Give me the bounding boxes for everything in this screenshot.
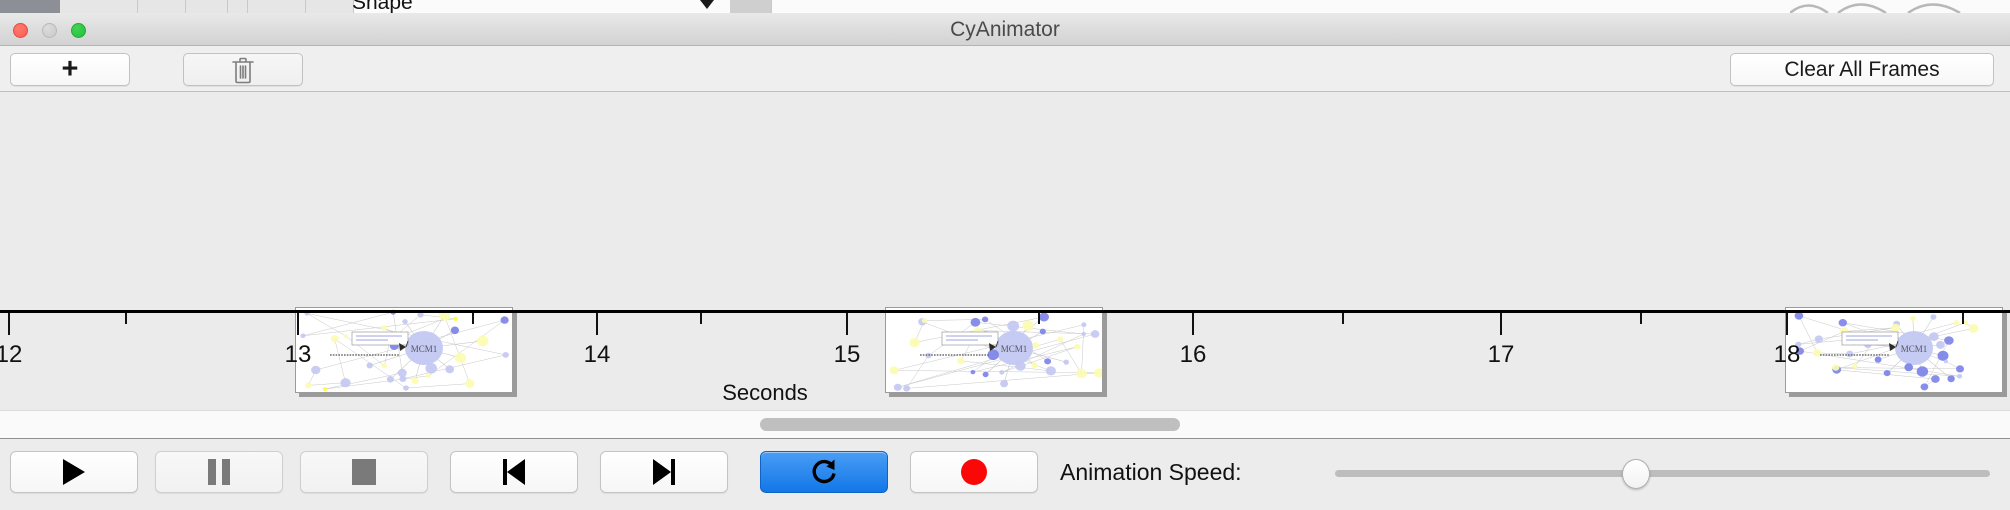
axis-tick-label: 13	[285, 341, 312, 369]
axis-tick-major	[596, 313, 598, 335]
axis-tick-minor	[1342, 313, 1344, 324]
record-button[interactable]	[910, 451, 1038, 493]
plus-icon: +	[62, 58, 79, 81]
axis-tick-label: 15	[834, 341, 861, 369]
trash-icon	[230, 56, 256, 84]
timeline-scrollbar[interactable]	[0, 410, 2010, 438]
add-frame-button[interactable]: +	[10, 53, 130, 86]
bg-band-4	[228, 0, 248, 13]
svg-text:MCM1: MCM1	[1901, 344, 1928, 354]
bg-band-1	[60, 0, 138, 13]
bg-band-7	[730, 0, 772, 13]
playback-control-bar: Animation Speed:	[0, 438, 2010, 510]
clear-all-frames-label: Clear All Frames	[1784, 58, 1939, 82]
animation-speed-slider-knob[interactable]	[1622, 459, 1650, 489]
axis-tick-major	[846, 313, 848, 335]
axis-tick-minor	[1962, 313, 1964, 324]
axis-tick-minor	[700, 313, 702, 324]
skip-forward-icon	[653, 459, 675, 485]
svg-text:MCM1: MCM1	[411, 344, 438, 354]
bg-arc-decoration	[1790, 0, 2010, 13]
bg-dark-segment	[0, 0, 60, 13]
timeline-panel[interactable]: MCM1 MCM1	[0, 92, 2010, 410]
loop-button[interactable]	[760, 451, 888, 493]
axis-tick-major	[1192, 313, 1194, 335]
timeline-axis	[0, 310, 2010, 313]
frame-toolbar: + Clear All Frames	[0, 46, 2010, 92]
bg-band-3	[186, 0, 228, 13]
axis-tick-major	[8, 313, 10, 335]
bg-triangle-icon	[700, 0, 714, 9]
record-icon	[961, 459, 987, 485]
axis-tick-major	[1786, 313, 1788, 335]
axis-tick-label: 17	[1488, 341, 1515, 369]
timeline-scrollbar-thumb[interactable]	[760, 418, 1180, 431]
stop-button[interactable]	[300, 451, 428, 493]
window-title: CyAnimator	[0, 13, 2010, 46]
axis-tick-label: 12	[0, 341, 22, 369]
svg-text:MCM1: MCM1	[1001, 344, 1028, 354]
bg-band-6	[306, 0, 354, 13]
axis-tick-minor	[125, 313, 127, 324]
skip-forward-button[interactable]	[600, 451, 728, 493]
axis-tick-major	[1500, 313, 1502, 335]
animation-speed-label: Animation Speed:	[1060, 451, 1242, 493]
bg-band-2	[138, 0, 186, 13]
background-window-strip: Shape	[0, 0, 2010, 13]
skip-back-button[interactable]	[450, 451, 578, 493]
axis-title-text: Seconds	[722, 380, 808, 406]
pause-button[interactable]	[155, 451, 283, 493]
animation-speed-slider[interactable]	[1335, 470, 1990, 477]
clear-all-frames-button[interactable]: Clear All Frames	[1730, 53, 1994, 86]
axis-title: Seconds	[0, 380, 2010, 406]
axis-tick-minor	[1038, 313, 1040, 324]
axis-tick-minor	[1640, 313, 1642, 324]
delete-frame-button[interactable]	[183, 53, 303, 86]
pause-icon	[208, 459, 230, 485]
axis-tick-label: 14	[584, 341, 611, 369]
loop-icon	[809, 457, 839, 487]
bg-band-5	[248, 0, 306, 13]
skip-back-icon	[503, 459, 525, 485]
axis-tick-major	[297, 313, 299, 335]
axis-tick-minor	[472, 313, 474, 324]
window-title-bar: CyAnimator	[0, 13, 2010, 46]
axis-tick-label: 16	[1180, 341, 1207, 369]
play-button[interactable]	[10, 451, 138, 493]
bg-shape-label: Shape	[352, 0, 413, 13]
stop-icon	[352, 459, 376, 485]
play-icon	[63, 459, 85, 485]
axis-tick-label: 18	[1774, 341, 1801, 369]
